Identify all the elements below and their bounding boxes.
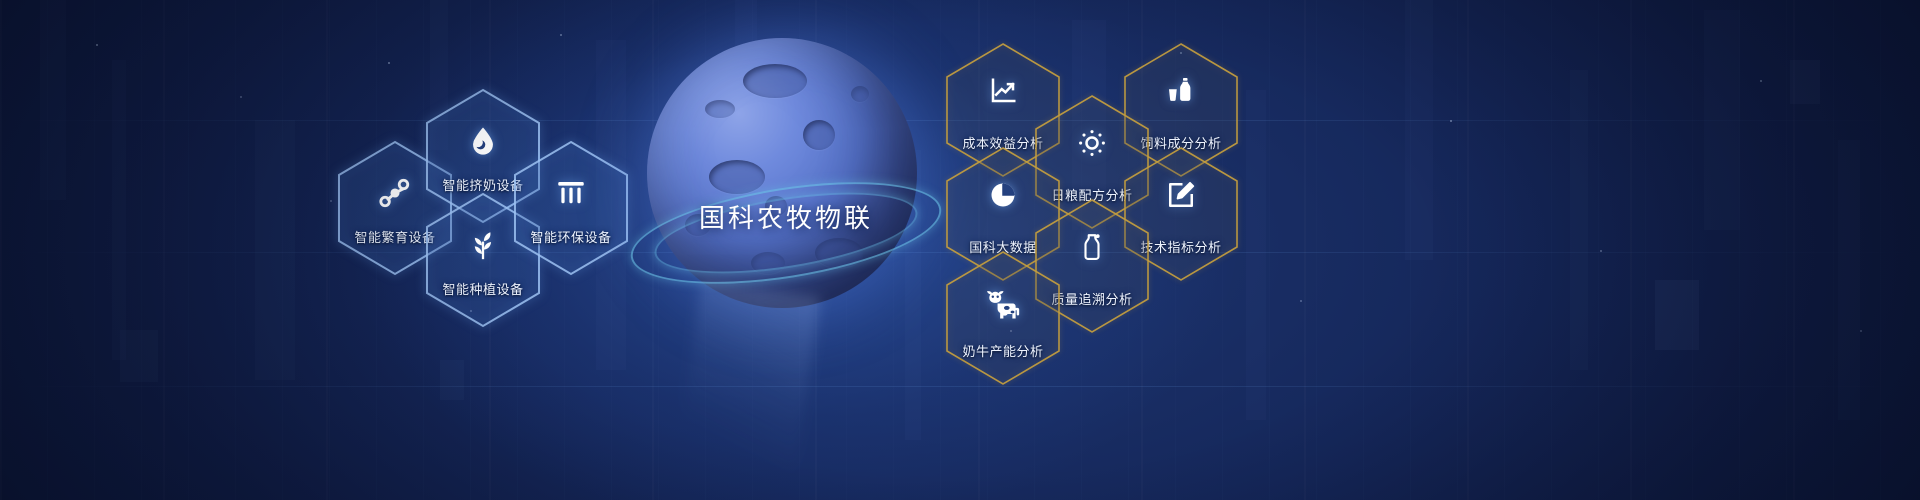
line-chart-icon <box>988 76 1018 106</box>
hex-label: 智能种植设备 <box>442 279 523 298</box>
milk-bottle-icon <box>1077 232 1107 262</box>
hex-label: 智能环保设备 <box>530 227 611 246</box>
pie-chart-icon <box>988 180 1018 210</box>
background-hline <box>0 386 1920 387</box>
hex-label: 技术指标分析 <box>1140 237 1221 256</box>
edit-pencil-icon <box>1166 180 1196 210</box>
milk-bottle-glass-icon <box>1166 76 1196 106</box>
central-planet: 国科农牧物联 <box>647 38 947 338</box>
recycle-bin-icon <box>554 176 588 210</box>
hex-label: 质量追溯分析 <box>1051 289 1132 308</box>
breeding-node-icon <box>378 176 412 210</box>
plant-sprout-icon <box>466 228 500 262</box>
page-title: 国科农牧物联 <box>661 198 911 235</box>
dairy-cow-icon <box>984 284 1022 322</box>
sun-radial-icon <box>1077 128 1107 158</box>
hex-environmental-equipment[interactable]: 智能环保设备 <box>512 140 630 276</box>
hero-banner: 智能繁育设备 智能挤奶设备 智能种植设备 <box>0 0 1920 500</box>
hex-label: 奶牛产能分析 <box>962 341 1043 360</box>
hex-cow-capacity-analysis[interactable]: 奶牛产能分析 <box>944 250 1062 386</box>
milk-drop-icon <box>466 124 500 158</box>
